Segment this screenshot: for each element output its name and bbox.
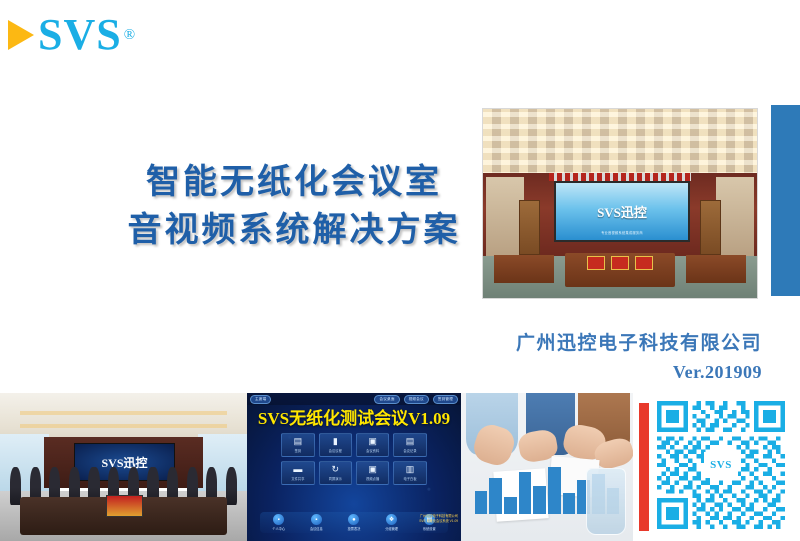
app-topbar-pill[interactable]: 签到管理: [433, 395, 458, 404]
attendee: [226, 467, 237, 505]
title-line-1: 智能无纸化会议室: [104, 158, 484, 206]
qr-code[interactable]: SVS: [657, 401, 785, 529]
water-glass: [586, 468, 626, 535]
app-topbar-pill[interactable]: 视频会议: [404, 395, 429, 404]
folder-icon: ▬: [293, 465, 302, 474]
dock-item-label: 个人中心: [272, 526, 285, 531]
app-title: SVS无纸化测试会议V1.09: [247, 404, 461, 429]
photo-desk-flag: [635, 256, 653, 269]
photo-desk-flags: [587, 256, 653, 267]
bottom-image-strip: SVS迅控 主席端 会议桌面 视频会议 签到管理: [0, 393, 800, 541]
app-tile-label: 电子白板: [403, 476, 416, 481]
app-tile-label: 会议资料: [366, 448, 379, 453]
photo-door-left: [519, 200, 540, 255]
qr-center-logo: SVS: [704, 452, 738, 478]
app-tile-label: 视频点播: [366, 476, 379, 481]
title-line-2: 音视频系统解决方案: [104, 206, 484, 254]
photo-banner-strip: [549, 173, 691, 181]
strip-panel-software-ui: 主席端 会议桌面 视频会议 签到管理 SVS无纸化测试会议V1.09 ▤ 签到 …: [247, 393, 461, 541]
red-accent-bar: [639, 403, 649, 531]
camera-icon: ▣: [368, 465, 377, 474]
user-icon: ▪: [273, 514, 284, 525]
right-accent-bar: [771, 105, 800, 296]
clipboard-check-icon: ▤: [294, 437, 303, 446]
app-tile[interactable]: ▣ 视频点播: [356, 461, 389, 485]
version-label: Ver.201909: [673, 362, 762, 383]
room-center-display: [106, 495, 143, 518]
dock-item-label: 系统设置: [423, 526, 436, 531]
vote-icon: ●: [348, 514, 359, 525]
qr-center-label: SVS: [710, 459, 732, 471]
svs-logo: SVS ®: [8, 14, 135, 56]
dock-item[interactable]: ● 投票表决: [348, 514, 361, 531]
app-tile-label: 文件共享: [291, 476, 304, 481]
photo-ceiling: [483, 109, 757, 177]
briefcase-icon: ▥: [406, 465, 415, 474]
photo-table-left: [494, 255, 554, 283]
dock-item[interactable]: ❖ 分组管理: [385, 514, 398, 531]
photo-desk-flag: [611, 256, 629, 269]
refresh-icon: ↻: [332, 465, 340, 474]
app-tile[interactable]: ↻ 同屏演示: [319, 461, 352, 485]
photo-door-right: [700, 200, 721, 255]
photo-screen-text: SVS迅控: [597, 202, 647, 221]
app-tile-label: 会议议程: [329, 448, 342, 453]
app-topbar-pill-group: 会议桌面 视频会议 签到管理: [374, 395, 458, 404]
dock-item-label: 分组管理: [385, 526, 398, 531]
photo-led-screen: SVS迅控 专业音视频系统集成服务商: [554, 181, 690, 242]
group-icon: ❖: [386, 514, 397, 525]
app-tile[interactable]: ▥ 电子白板: [393, 461, 426, 485]
app-tile[interactable]: ▤ 签到: [281, 433, 314, 457]
strip-panel-qr-code: SVS: [633, 393, 800, 541]
photo-table-right: [686, 255, 746, 283]
dock-item-label: 会议信息: [310, 526, 323, 531]
dock-item[interactable]: ▪ 会议信息: [310, 514, 323, 531]
strip-panel-team-photo: [461, 393, 633, 541]
app-tile[interactable]: ▮ 会议议程: [319, 433, 352, 457]
note-edit-icon: ▤: [406, 437, 415, 446]
logo-wordmark: SVS: [38, 13, 122, 57]
company-name: 广州迅控电子科技有限公司: [516, 328, 762, 355]
app-tile[interactable]: ▤ 会议记录: [393, 433, 426, 457]
registered-trademark-icon: ®: [124, 27, 135, 44]
presentation-cover-slide: SVS ® SVS迅控 专业音视频系统集成服务商 智能无纸化会议室 音视频系统解…: [0, 0, 800, 541]
app-tile[interactable]: ▣ 会议资料: [356, 433, 389, 457]
document-icon: ▮: [333, 437, 338, 446]
app-tile-label: 签到: [295, 448, 302, 453]
photo-screen-subtext: 专业音视频系统集成服务商: [556, 230, 688, 235]
app-tile-label: 同屏演示: [329, 476, 342, 481]
page-title: 智能无纸化会议室 音视频系统解决方案: [104, 158, 484, 255]
play-triangle-icon: [8, 20, 34, 50]
app-stamp-line-2: SVS 无纸化会议系统 V1.09: [419, 519, 458, 523]
conference-room-hero-photo: SVS迅控 专业音视频系统集成服务商: [482, 108, 758, 299]
app-tile-label: 会议记录: [403, 448, 416, 453]
app-corner-stamp: 广州迅控电子科技有限公司 SVS 无纸化会议系统 V1.09: [419, 514, 458, 523]
dock-item[interactable]: ▪ 个人中心: [272, 514, 285, 531]
app-icon-grid: ▤ 签到 ▮ 会议议程 ▣ 会议资料 ▤ 会议记录 ▬ 文件共享: [281, 433, 427, 485]
photo-desk-flag: [587, 256, 605, 269]
photo-side-wall-right: [716, 177, 754, 256]
app-topbar-pill-left[interactable]: 主席端: [250, 395, 271, 404]
dock-item-label: 投票表决: [348, 526, 361, 531]
strip-panel-conference-room: SVS迅控: [0, 393, 247, 541]
info-icon: ▪: [311, 514, 322, 525]
app-tile[interactable]: ▬ 文件共享: [281, 461, 314, 485]
folder-search-icon: ▣: [368, 437, 377, 446]
app-topbar-pill[interactable]: 会议桌面: [374, 395, 399, 404]
